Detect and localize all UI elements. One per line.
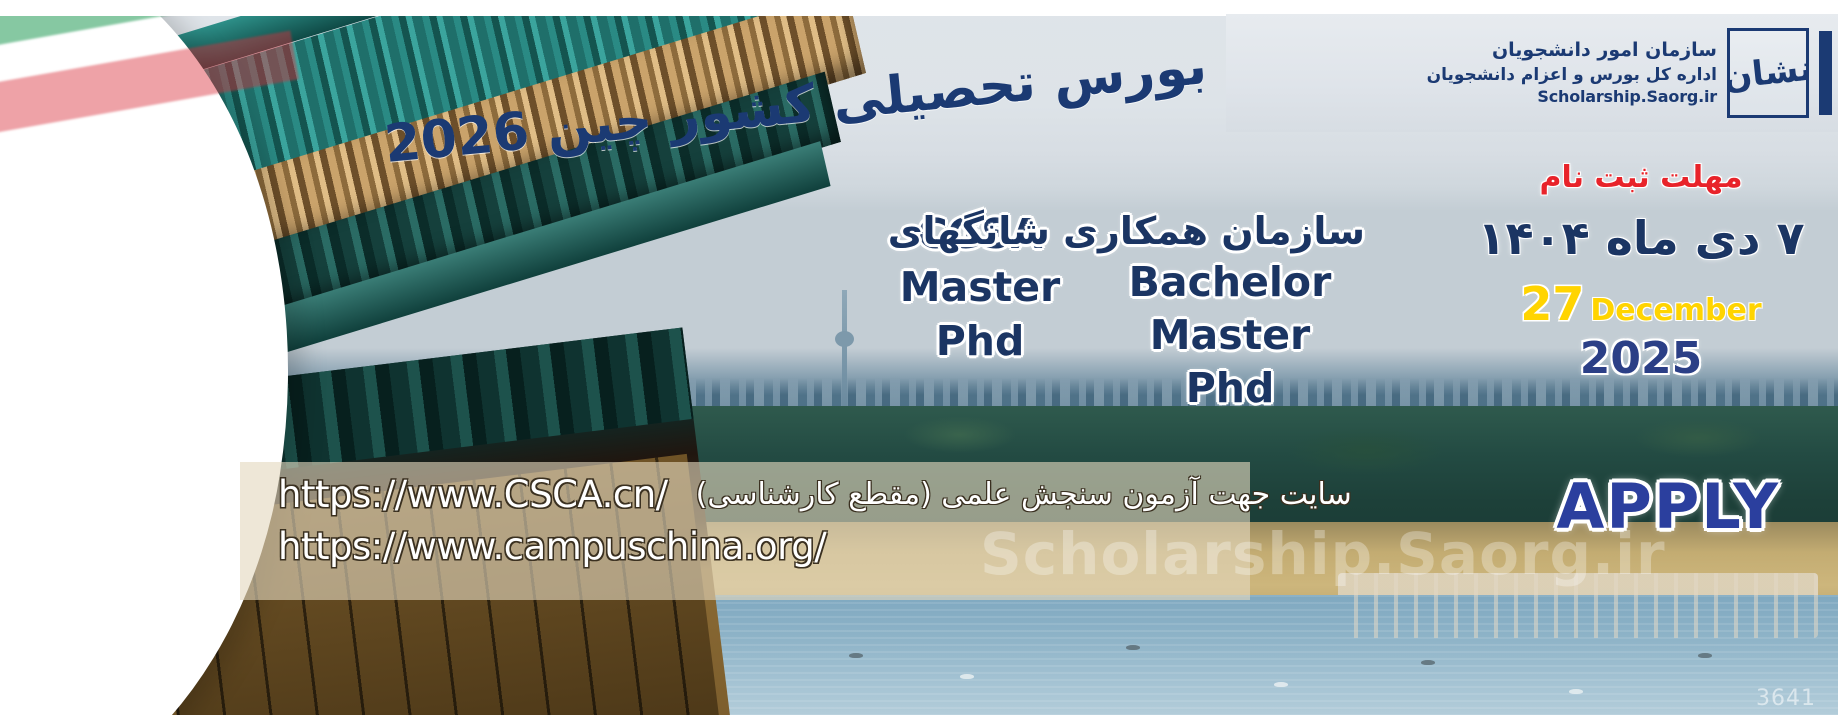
apply-button[interactable]: APPLY — [1556, 470, 1780, 543]
deadline-year: 2025 — [1476, 333, 1806, 384]
saorg-logo: نشان — [1727, 28, 1809, 118]
links-content: https://www.CSCA.cn/ سایت جهت آزمون سنجش… — [278, 468, 1258, 572]
sco-level-bachelor: Bachelor — [1095, 256, 1365, 309]
deadline-day: 27 — [1520, 277, 1584, 331]
bottom-white-strip — [0, 715, 1846, 725]
boat — [1698, 653, 1712, 658]
boat — [1569, 689, 1583, 694]
organization-department: اداره کل بورس و اعزام دانشجویان — [1427, 64, 1717, 87]
organization-text-block: سازمان امور دانشجویان اداره کل بورس و اع… — [1427, 38, 1717, 108]
logo-calligraphy-glyph: نشان — [1727, 51, 1809, 94]
sco-title: سازمان همکاری شانگهای — [1095, 208, 1365, 256]
logo-accent-bar — [1819, 31, 1832, 115]
links-row-primary: https://www.CSCA.cn/ سایت جهت آزمون سنجش… — [278, 468, 1258, 520]
sco-program-column: سازمان همکاری شانگهای Bachelor Master Ph… — [1095, 208, 1365, 415]
right-white-strip — [1838, 0, 1846, 725]
scholarship-poster: سازمان امور دانشجویان اداره کل بورس و اع… — [0, 0, 1846, 725]
csca-url[interactable]: https://www.CSCA.cn/ — [278, 473, 668, 516]
sco-level-phd: Phd — [1095, 362, 1365, 415]
deadline-month: December — [1590, 293, 1761, 328]
corner-number: 3641 — [1756, 686, 1816, 711]
cgsa-level-master: Master — [890, 261, 1070, 314]
registration-deadline-block: مهلت ثبت نام ۷ دی ماه ۱۴۰۴ 27 December 2… — [1476, 160, 1806, 384]
deadline-gregorian-date: 27 December — [1476, 277, 1806, 331]
boat — [1421, 660, 1435, 665]
boat — [849, 653, 863, 658]
deadline-persian-date: ۷ دی ماه ۱۴۰۴ — [1476, 211, 1806, 265]
boat — [1274, 682, 1288, 687]
organization-header: سازمان امور دانشجویان اداره کل بورس و اع… — [1226, 14, 1846, 132]
organization-website[interactable]: Scholarship.Saorg.ir — [1427, 86, 1717, 108]
links-caption: سایت جهت آزمون سنجش علمی (مقطع کارشناسی) — [696, 477, 1352, 512]
cgsa-level-phd: Phd — [890, 315, 1070, 368]
deadline-label: مهلت ثبت نام — [1476, 160, 1806, 195]
links-row-secondary: https://www.campuschina.org/ — [278, 520, 1258, 572]
campuschina-url[interactable]: https://www.campuschina.org/ — [278, 525, 826, 568]
boat — [960, 674, 974, 679]
boat — [1126, 645, 1140, 650]
stone-bridge — [1338, 573, 1818, 638]
organization-name: سازمان امور دانشجویان — [1427, 38, 1717, 64]
sco-level-master: Master — [1095, 309, 1365, 362]
